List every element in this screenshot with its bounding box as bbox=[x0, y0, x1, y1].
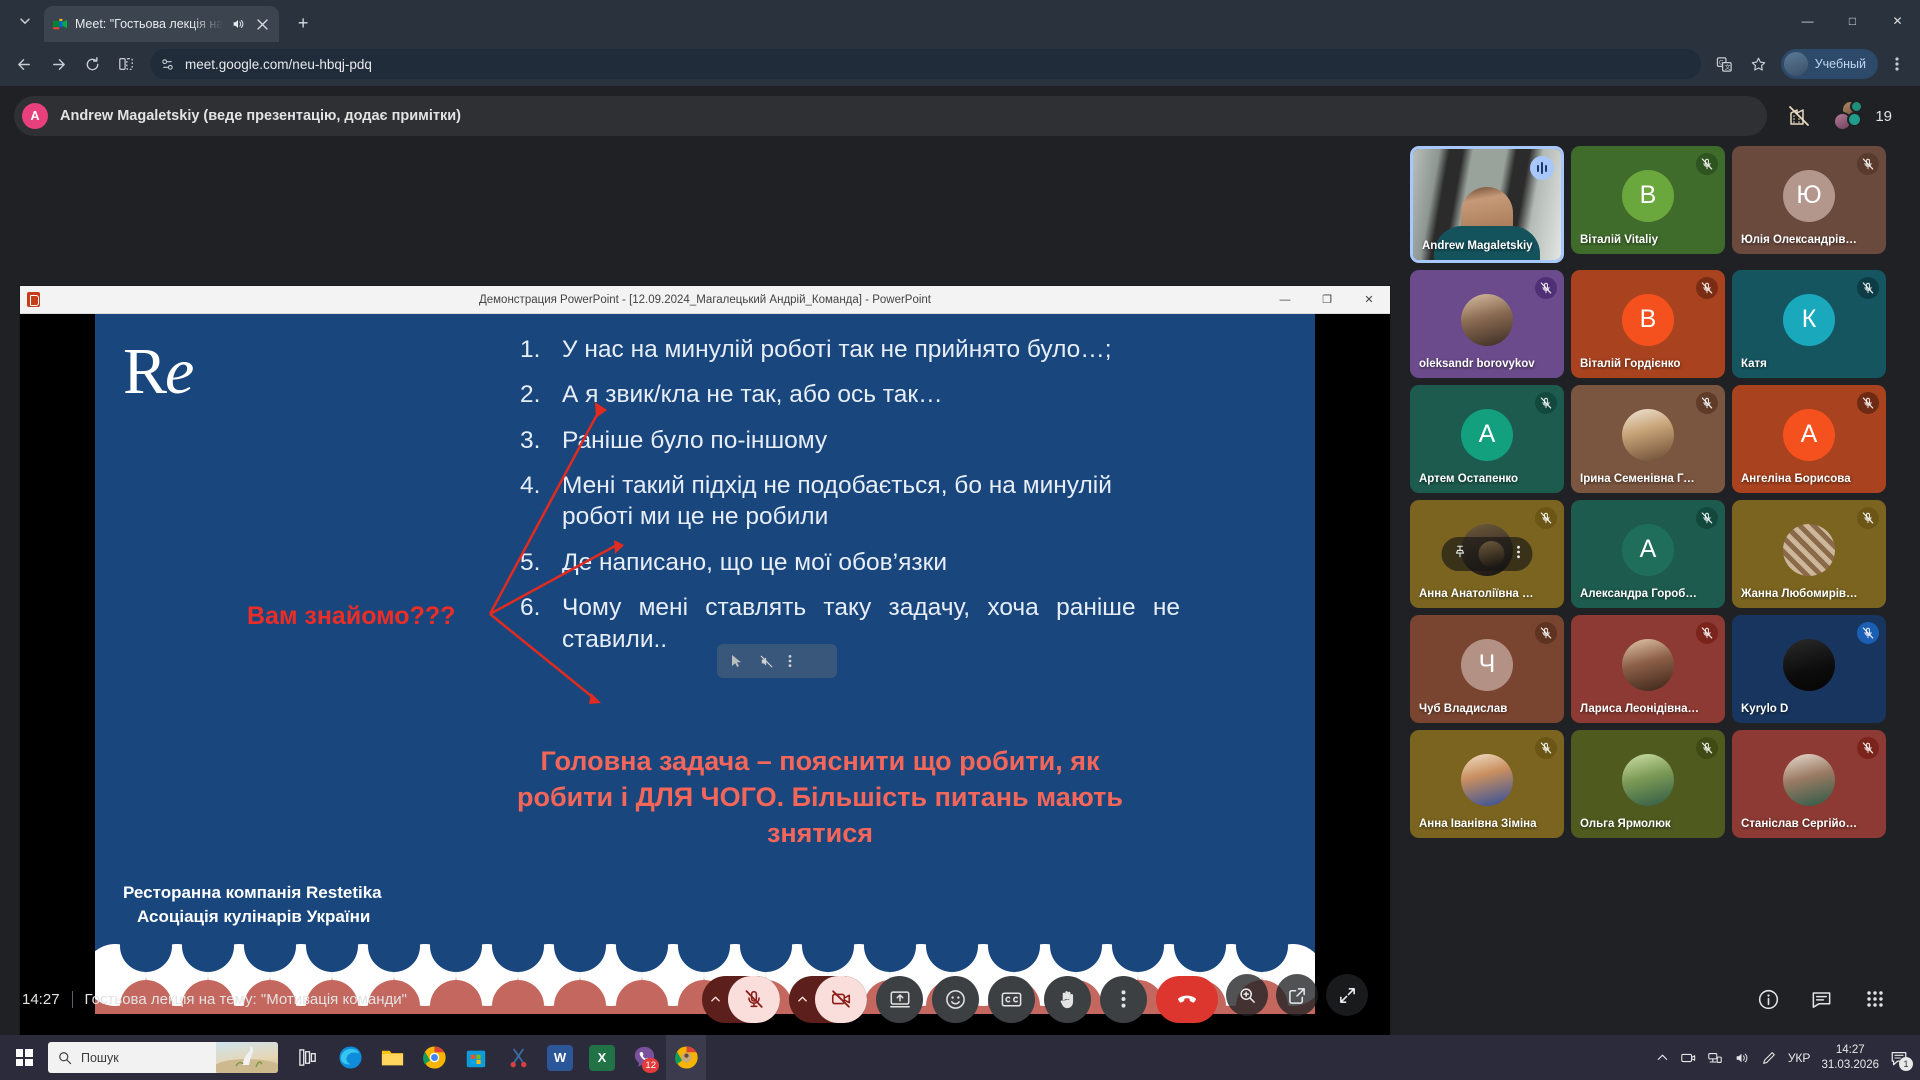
participant-tile[interactable]: ААлександра Горобе… bbox=[1571, 500, 1725, 608]
mic-off-icon bbox=[1535, 277, 1557, 299]
system-tray: УКР 14:27 31.03.2026 1 bbox=[1656, 1043, 1920, 1072]
tab-strip: Meet: "Гостьова лекція на + — □ ✕ bbox=[0, 0, 1920, 42]
mic-off-icon bbox=[1857, 737, 1879, 759]
captions-button[interactable] bbox=[988, 976, 1035, 1023]
reload-icon[interactable] bbox=[76, 48, 108, 80]
slide-footer: Ресторанна компанія Restetika Асоціація … bbox=[123, 881, 382, 930]
slide-footer-line-2: Асоціація кулінарів України bbox=[123, 905, 382, 930]
taskbar-app-file-explorer[interactable] bbox=[372, 1035, 412, 1080]
profile-label: Учебный bbox=[1815, 57, 1866, 71]
participant-initial-avatar: Ю bbox=[1783, 170, 1835, 222]
participant-tile[interactable]: ВВіталій Гордієнко bbox=[1571, 270, 1725, 378]
mic-off-icon bbox=[1857, 507, 1879, 529]
restore-button[interactable]: ❐ bbox=[1306, 286, 1348, 314]
avatar bbox=[1784, 52, 1808, 76]
powerpoint-window-controls: — ❐ ✕ bbox=[1264, 286, 1390, 314]
participant-count: 19 bbox=[1875, 108, 1892, 125]
participant-tile[interactable]: ВВіталій Vitaliy bbox=[1571, 146, 1725, 254]
close-button[interactable]: ✕ bbox=[1348, 286, 1390, 314]
participant-name: Катя bbox=[1741, 358, 1862, 370]
svg-text:文: 文 bbox=[1725, 63, 1731, 71]
mic-off-icon bbox=[1535, 507, 1557, 529]
volume-icon[interactable] bbox=[1734, 1050, 1750, 1066]
language-indicator[interactable]: УКР bbox=[1788, 1051, 1811, 1065]
minimize-button[interactable]: — bbox=[1264, 286, 1306, 314]
participant-tile[interactable]: ЧЧуб Владислав bbox=[1410, 615, 1564, 723]
notifications-button[interactable]: 1 bbox=[1890, 1049, 1908, 1067]
browser-toolbar: meet.google.com/neu-hbqj-pdq G文 Учебный bbox=[0, 42, 1920, 86]
kebab-menu-icon[interactable] bbox=[1517, 545, 1521, 564]
slide-bullet-list: 1. У нас на минулій роботі так не прийня… bbox=[520, 334, 1180, 669]
mic-off-icon[interactable] bbox=[728, 976, 780, 1023]
participant-tile[interactable]: Лариса Леонідівна … bbox=[1571, 615, 1725, 723]
reactions-button[interactable] bbox=[932, 976, 979, 1023]
site-settings-icon[interactable] bbox=[160, 57, 175, 72]
tab-search-chevron-icon[interactable] bbox=[10, 6, 40, 36]
participant-photo bbox=[1461, 754, 1513, 806]
list-item: 6. Чому мені ставлять таку задачу, хоча … bbox=[520, 592, 1180, 655]
meeting-time: 14:27 bbox=[22, 991, 60, 1008]
taskbar-app-excel[interactable]: X bbox=[582, 1035, 622, 1080]
mic-off-icon bbox=[1535, 622, 1557, 644]
camera-icon[interactable] bbox=[1680, 1050, 1696, 1066]
mic-off-icon bbox=[1696, 622, 1718, 644]
word-icon: W bbox=[547, 1045, 573, 1071]
chevron-up-icon[interactable] bbox=[789, 976, 815, 1023]
minimize-button[interactable]: — bbox=[1785, 0, 1830, 42]
participant-initial-avatar: В bbox=[1622, 294, 1674, 346]
viber-badge: 12 bbox=[642, 1058, 659, 1073]
search-input[interactable]: Пошук bbox=[48, 1042, 278, 1073]
mic-off-icon bbox=[1857, 277, 1879, 299]
excel-icon: X bbox=[589, 1045, 615, 1071]
meet-bottom-bar: 14:27 Гостьова лекція на тему: "Мотиваці… bbox=[0, 963, 1920, 1035]
taskbar-app-edge[interactable] bbox=[330, 1035, 370, 1080]
divider bbox=[72, 991, 73, 1008]
participant-name: Kyrylo D bbox=[1741, 703, 1862, 715]
chrome-icon bbox=[421, 1045, 447, 1071]
url-text[interactable]: meet.google.com/neu-hbqj-pdq bbox=[185, 57, 1691, 72]
search-icon bbox=[58, 1051, 72, 1065]
participant-photo bbox=[1622, 754, 1674, 806]
participant-initial-avatar: К bbox=[1783, 294, 1835, 346]
task-view-button[interactable] bbox=[288, 1035, 328, 1080]
browser-tab[interactable]: Meet: "Гостьова лекція на bbox=[44, 6, 279, 42]
taskbar-app-snipping-tool[interactable] bbox=[498, 1035, 538, 1080]
chevron-up-icon[interactable] bbox=[702, 976, 728, 1023]
participant-name: Віталій Vitaliy bbox=[1580, 234, 1701, 246]
participant-name: Лариса Леонідівна … bbox=[1580, 703, 1701, 715]
participant-photo bbox=[1783, 524, 1835, 576]
more-options-button[interactable] bbox=[1100, 976, 1147, 1023]
notification-count: 1 bbox=[1899, 1057, 1913, 1071]
participant-photo bbox=[1783, 639, 1835, 691]
participant-tile[interactable]: Kyrylo D bbox=[1732, 615, 1886, 723]
clock[interactable]: 14:27 31.03.2026 bbox=[1821, 1043, 1879, 1072]
chrome-icon bbox=[673, 1045, 699, 1071]
participant-grid: Andrew MagaletskiyВВіталій VitaliyЮЮлія … bbox=[1410, 146, 1910, 838]
presenter-banner-label: Andrew Magaletskiy (веде презентацію, до… bbox=[60, 108, 461, 124]
kebab-menu-icon[interactable] bbox=[1882, 49, 1912, 79]
call-controls bbox=[702, 976, 1218, 1023]
leave-call-button[interactable] bbox=[1156, 976, 1218, 1023]
activities-button[interactable] bbox=[1851, 976, 1898, 1023]
profile-button[interactable]: Учебный bbox=[1781, 49, 1878, 79]
toolbar-right: G文 Учебный bbox=[1709, 48, 1912, 80]
network-icon[interactable] bbox=[1707, 1050, 1723, 1066]
speaker-icon[interactable] bbox=[230, 16, 246, 32]
avatar-stack bbox=[1833, 101, 1867, 131]
participant-initial-avatar: В bbox=[1622, 170, 1674, 222]
taskbar-app-word[interactable]: W bbox=[540, 1035, 580, 1080]
list-item: 5. Де написано, що це мої обов’язки bbox=[520, 547, 1180, 578]
participant-name: Анна Іванівна Зіміна bbox=[1419, 818, 1540, 830]
participant-photo bbox=[1783, 754, 1835, 806]
tile-hover-actions[interactable] bbox=[1442, 537, 1533, 571]
split-screen-icon[interactable] bbox=[110, 48, 142, 80]
participant-photo bbox=[1479, 541, 1505, 567]
participant-tile[interactable]: ААртем Остапенко bbox=[1410, 385, 1564, 493]
new-tab-button[interactable]: + bbox=[289, 9, 317, 37]
mic-off-icon bbox=[1696, 737, 1718, 759]
mic-off-icon bbox=[1857, 392, 1879, 414]
slide: Re 1. У нас на минулій роботі так не при… bbox=[95, 314, 1315, 1014]
meeting-info: 14:27 Гостьова лекція на тему: "Мотиваці… bbox=[0, 991, 407, 1008]
clock-date: 31.03.2026 bbox=[1821, 1058, 1879, 1072]
host-controls-off-icon[interactable] bbox=[1777, 94, 1821, 138]
participant-name: Ангеліна Борисова bbox=[1741, 473, 1862, 485]
participant-name: Жанна Любомирівн… bbox=[1741, 588, 1862, 600]
participant-tile[interactable]: Жанна Любомирівн… bbox=[1732, 500, 1886, 608]
meeting-details-button[interactable] bbox=[1745, 976, 1792, 1023]
camera-off-icon[interactable] bbox=[815, 976, 867, 1023]
participant-tile[interactable]: oleksandr borovykov bbox=[1410, 270, 1564, 378]
participant-tile[interactable]: Анна Іванівна Зіміна bbox=[1410, 730, 1564, 838]
microphone-toggle[interactable] bbox=[702, 976, 780, 1023]
participant-name: Andrew Magaletskiy bbox=[1422, 240, 1537, 252]
taskbar-app-viber[interactable]: 12 bbox=[624, 1035, 664, 1080]
powerpoint-icon bbox=[20, 286, 46, 314]
participant-name: Станіслав Сергійо… bbox=[1741, 818, 1862, 830]
search-placeholder: Пошук bbox=[81, 1051, 119, 1065]
participant-initial-avatar: Ч bbox=[1461, 639, 1513, 691]
top-right-controls: 19 bbox=[1777, 94, 1906, 138]
store-icon bbox=[463, 1045, 489, 1071]
browser-chrome: Meet: "Гостьова лекція на + — □ ✕ bbox=[0, 0, 1920, 86]
participant-initial-avatar: А bbox=[1461, 409, 1513, 461]
show-hidden-icons[interactable] bbox=[1656, 1051, 1669, 1064]
mic-off-icon bbox=[1696, 277, 1718, 299]
mic-off-icon bbox=[1696, 507, 1718, 529]
participant-name: Ірина Семенівна Гр… bbox=[1580, 473, 1701, 485]
participant-tile[interactable]: Ірина Семенівна Гр… bbox=[1571, 385, 1725, 493]
pen-icon[interactable] bbox=[1761, 1050, 1777, 1066]
speaking-indicator-icon bbox=[1530, 156, 1554, 180]
list-item: 1. У нас на минулій роботі так не прийня… bbox=[520, 334, 1180, 365]
close-icon[interactable] bbox=[253, 15, 271, 33]
list-item: 4. Мені такий підхід не подобається, бо … bbox=[520, 470, 1180, 533]
tab-title: Meet: "Гостьова лекція на bbox=[75, 17, 223, 31]
star-icon[interactable] bbox=[1743, 48, 1775, 80]
browser-window-controls: — □ ✕ bbox=[1785, 0, 1920, 42]
edge-icon bbox=[337, 1045, 363, 1071]
forward-icon[interactable] bbox=[42, 48, 74, 80]
presentation-stage: Демонстрация PowerPoint - [12.09.2024_Ма… bbox=[0, 138, 1405, 1018]
participant-name: oleksandr borovykov bbox=[1419, 358, 1540, 370]
participant-name: Ольга Ярмолюк bbox=[1580, 818, 1701, 830]
translate-icon[interactable]: G文 bbox=[1709, 48, 1741, 80]
scissors-icon bbox=[505, 1045, 531, 1071]
camera-toggle[interactable] bbox=[789, 976, 867, 1023]
address-bar[interactable]: meet.google.com/neu-hbqj-pdq bbox=[150, 49, 1701, 79]
participant-name: Юлія Олександрівн… bbox=[1741, 234, 1862, 246]
mic-off-icon bbox=[1857, 153, 1879, 175]
meet-app: A Andrew Magaletskiy (веде презентацію, … bbox=[0, 86, 1920, 1080]
participant-name: Чуб Владислав bbox=[1419, 703, 1540, 715]
participant-name: Анна Анатоліївна С… bbox=[1419, 588, 1540, 600]
participant-tile[interactable]: Ольга Ярмолюк bbox=[1571, 730, 1725, 838]
back-icon[interactable] bbox=[8, 48, 40, 80]
participant-photo bbox=[1461, 294, 1513, 346]
avatar: A bbox=[22, 103, 48, 129]
mic-off-icon bbox=[1696, 392, 1718, 414]
presenter-banner: A Andrew Magaletskiy (веде презентацію, … bbox=[14, 96, 1767, 136]
mic-off-icon bbox=[1535, 392, 1557, 414]
meeting-title: Гостьова лекція на тему: "Мотивація кома… bbox=[85, 991, 407, 1008]
windows-taskbar: Пошук bbox=[0, 1035, 1920, 1080]
participant-photo bbox=[1622, 639, 1674, 691]
folder-icon bbox=[379, 1045, 405, 1071]
participant-tile[interactable]: ККатя bbox=[1732, 270, 1886, 378]
windows-logo-icon bbox=[16, 1049, 33, 1066]
taskbar-app-microsoft-store[interactable] bbox=[456, 1035, 496, 1080]
slide-logo: Re bbox=[123, 334, 192, 410]
slide-area: Re 1. У нас на минулій роботі так не при… bbox=[20, 314, 1390, 1044]
maximize-button[interactable]: □ bbox=[1830, 0, 1875, 42]
participant-name: Віталій Гордієнко bbox=[1580, 358, 1701, 370]
search-illustration bbox=[216, 1042, 278, 1073]
meet-favicon-icon bbox=[52, 16, 68, 32]
chat-button[interactable] bbox=[1798, 976, 1845, 1023]
participant-name: Александра Горобе… bbox=[1580, 588, 1701, 600]
participant-tile[interactable]: Анна Анатоліївна С… bbox=[1410, 500, 1564, 608]
powerpoint-window-title: Демонстрация PowerPoint - [12.09.2024_Ма… bbox=[20, 294, 1390, 306]
meet-top-bar: A Andrew Magaletskiy (веде презентацію, … bbox=[0, 86, 1920, 138]
list-item: 3. Раніше було по-іншому bbox=[520, 425, 1180, 456]
participant-photo bbox=[1622, 409, 1674, 461]
taskbar-apps: W X 12 bbox=[288, 1035, 706, 1080]
participant-tile[interactable]: Станіслав Сергійо… bbox=[1732, 730, 1886, 838]
shared-cursor-overlay bbox=[717, 644, 837, 678]
participant-initial-avatar: А bbox=[1622, 524, 1674, 576]
close-button[interactable]: ✕ bbox=[1875, 0, 1920, 42]
slide-callout: Вам знайомо??? bbox=[247, 602, 455, 631]
slide-footer-line-1: Ресторанна компанія Restetika bbox=[123, 881, 382, 906]
participant-name: Артем Остапенко bbox=[1419, 473, 1540, 485]
mic-off-icon bbox=[1535, 737, 1557, 759]
participant-tile[interactable]: Andrew Magaletskiy bbox=[1410, 146, 1564, 263]
start-button[interactable] bbox=[0, 1035, 48, 1080]
taskbar-app-chrome-active[interactable] bbox=[666, 1035, 706, 1080]
pin-icon[interactable] bbox=[1454, 545, 1467, 563]
participant-initial-avatar: А bbox=[1783, 409, 1835, 461]
participant-tile[interactable]: ААнгеліна Борисова bbox=[1732, 385, 1886, 493]
raise-hand-button[interactable] bbox=[1044, 976, 1091, 1023]
task-view-icon bbox=[295, 1045, 321, 1071]
clock-time: 14:27 bbox=[1821, 1043, 1879, 1057]
powerpoint-window: Демонстрация PowerPoint - [12.09.2024_Ма… bbox=[20, 286, 1390, 1066]
participant-count-button[interactable]: 19 bbox=[1827, 96, 1906, 136]
participant-tile[interactable]: ЮЮлія Олександрівн… bbox=[1732, 146, 1886, 254]
powerpoint-titlebar: Демонстрация PowerPoint - [12.09.2024_Ма… bbox=[20, 286, 1390, 314]
meet-right-controls bbox=[1745, 976, 1898, 1023]
present-now-button[interactable] bbox=[876, 976, 923, 1023]
mic-off-icon bbox=[1857, 622, 1879, 644]
slide-conclusion: Головна задача – пояснити що робити, як … bbox=[490, 744, 1150, 852]
list-item: 2. А я звик/кла не так, або ось так… bbox=[520, 379, 1180, 410]
taskbar-app-chrome[interactable] bbox=[414, 1035, 454, 1080]
mic-off-icon bbox=[1696, 153, 1718, 175]
